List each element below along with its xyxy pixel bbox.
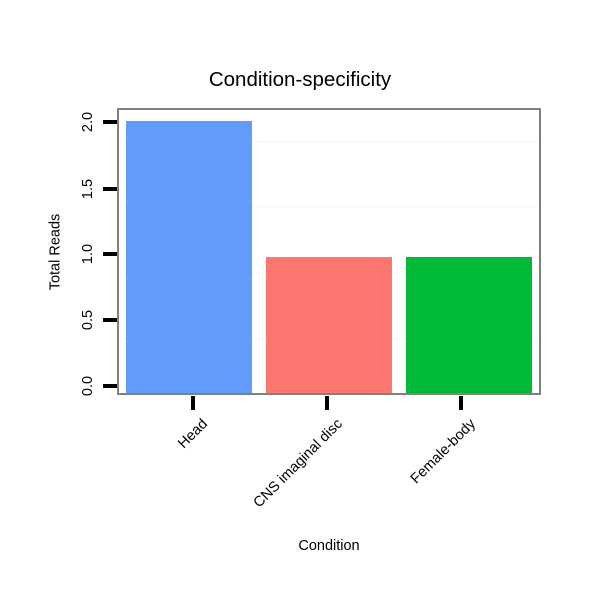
x-tick-label-head-text: Head xyxy=(175,416,211,452)
plot-area xyxy=(119,110,539,393)
chart-figure: Condition-specificity Total Reads 0.0 0.… xyxy=(0,0,600,600)
x-axis-title: Condition xyxy=(117,538,541,554)
y-tick-mark-0 xyxy=(103,384,117,388)
x-tick-label-female-body-text: Female-body xyxy=(408,416,479,487)
bar-head[interactable] xyxy=(126,121,251,393)
y-tick-mark-3 xyxy=(103,187,117,191)
y-axis-title-text: Total Reads xyxy=(47,214,63,291)
x-tick-mark-0 xyxy=(191,396,195,410)
y-tick-label-1-text: 0.5 xyxy=(80,310,96,330)
y-tick-mark-1 xyxy=(103,318,117,322)
bar-female-body[interactable] xyxy=(406,257,531,393)
x-tick-mark-1 xyxy=(325,396,329,410)
chart-title: Condition-specificity xyxy=(0,68,600,92)
y-tick-mark-4 xyxy=(103,120,117,124)
plot-panel xyxy=(117,108,541,395)
y-tick-label-2-text: 1.0 xyxy=(80,244,96,264)
bar-cns-imaginal-disc[interactable] xyxy=(266,257,391,393)
y-tick-label-3-text: 1.5 xyxy=(80,179,96,199)
y-tick-mark-2 xyxy=(103,252,117,256)
y-tick-label-0-text: 0.0 xyxy=(80,376,96,396)
y-tick-label-4-text: 2.0 xyxy=(80,112,96,132)
x-tick-mark-2 xyxy=(459,396,463,410)
x-tick-label-cns-imaginal-disc-text: CNS imaginal disc xyxy=(250,416,345,511)
